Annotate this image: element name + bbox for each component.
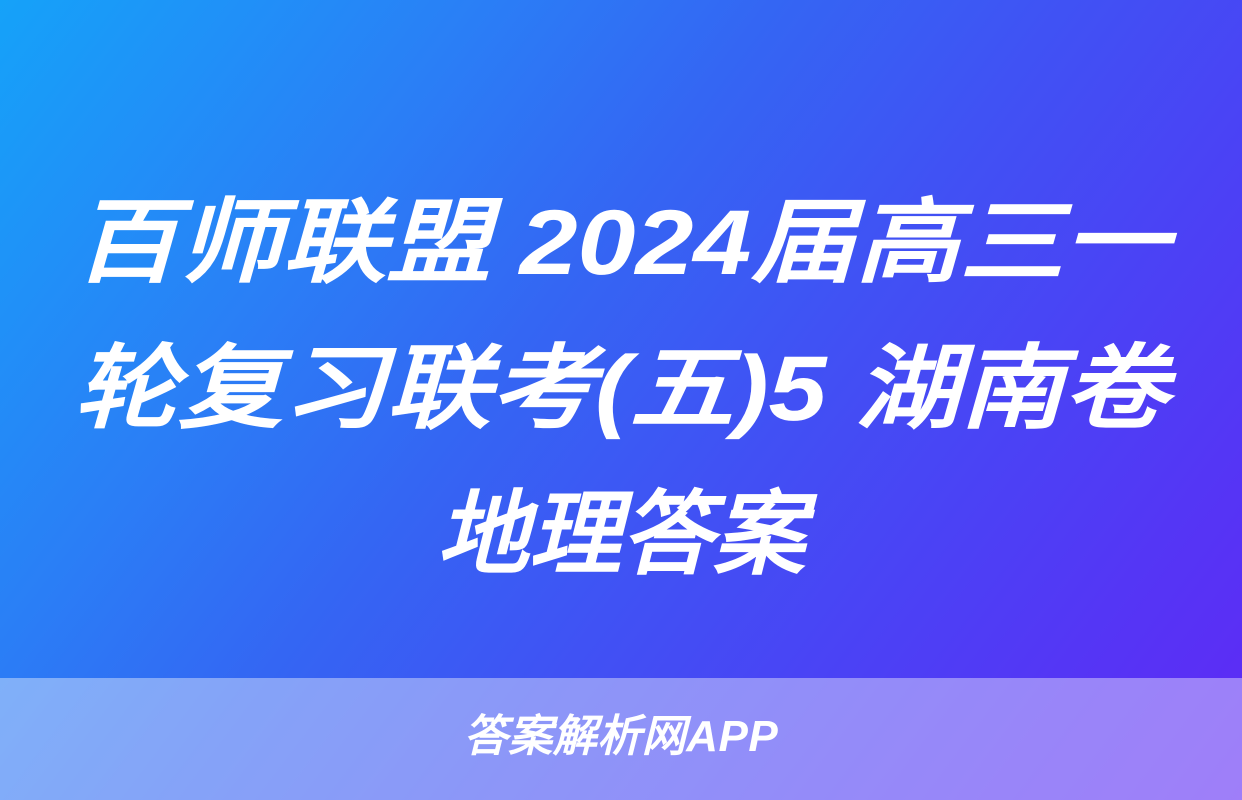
banner-title-line-2: 轮复习联考(五)5 湖南卷 bbox=[74, 316, 1168, 462]
footer-watermark-band: 答案解析网APP bbox=[0, 678, 1242, 800]
banner-title-block: 百师联盟 2024届高三一 轮复习联考(五)5 湖南卷 地理答案 bbox=[0, 170, 1242, 608]
banner-title-line-1-text: 百师联盟 2024届高三一 bbox=[74, 170, 1168, 316]
banner-title-line-2-text: 轮复习联考(五)5 湖南卷 bbox=[74, 316, 1168, 462]
banner-title-line-3: 地理答案 bbox=[74, 462, 1168, 608]
answer-cover-banner: 百师联盟 2024届高三一 轮复习联考(五)5 湖南卷 地理答案 答案解析网AP… bbox=[0, 0, 1242, 800]
app-watermark-label: 答案解析网APP bbox=[464, 715, 778, 759]
banner-title-line-1: 百师联盟 2024届高三一 bbox=[74, 170, 1168, 316]
